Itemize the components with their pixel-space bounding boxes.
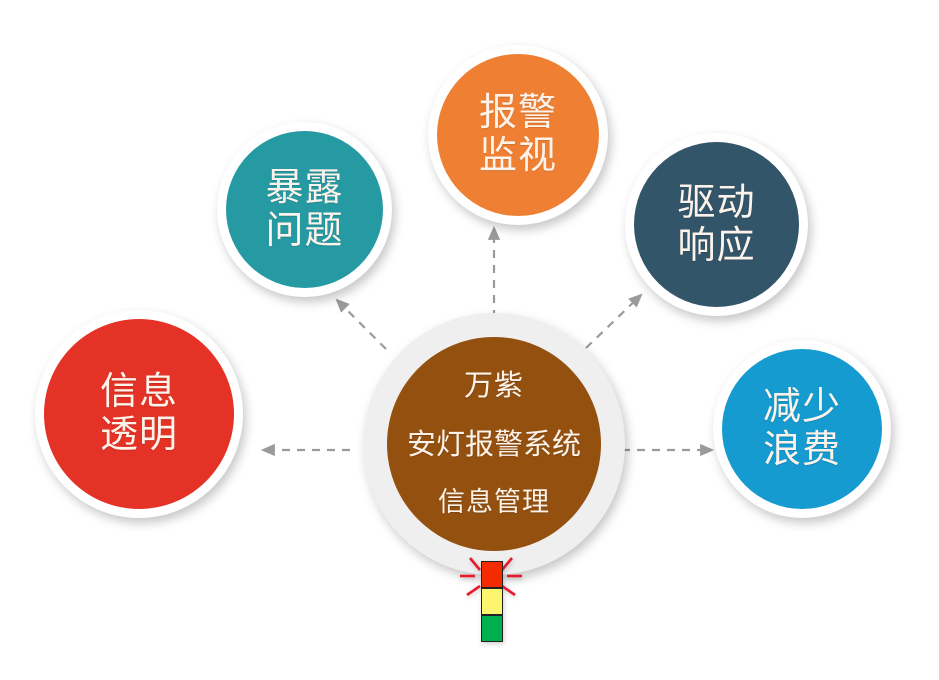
center-node-core: 万紫 安灯报警系统 信息管理: [387, 337, 601, 551]
node-drive-response-label: 驱动 响应: [677, 182, 755, 267]
andon-segment-green: [481, 615, 503, 642]
node-reduce-waste[interactable]: 减少 浪费: [713, 340, 891, 518]
node-alarm-monitor-label: 报警 监视: [479, 92, 557, 177]
node-reduce-waste-core: 减少 浪费: [722, 349, 882, 509]
andon-light-icon: [448, 548, 534, 648]
node-information-transparent-core: 信息 透明: [44, 319, 234, 509]
center-node-label: 万紫 安灯报警系统 信息管理: [407, 370, 581, 517]
node-expose-problem-label: 暴露 问题: [265, 167, 343, 252]
node-information-transparent-label: 信息 透明: [100, 371, 178, 456]
center-node[interactable]: 万紫 安灯报警系统 信息管理: [363, 313, 625, 575]
node-drive-response-core: 驱动 响应: [634, 142, 799, 307]
node-information-transparent[interactable]: 信息 透明: [35, 310, 243, 518]
node-expose-problem-core: 暴露 问题: [226, 131, 383, 288]
andon-segment-yellow: [481, 588, 503, 615]
connector-center-to-expose-problem: [337, 300, 386, 349]
node-drive-response[interactable]: 驱动 响应: [625, 133, 808, 316]
node-reduce-waste-label: 减少 浪费: [763, 386, 841, 471]
center-line-2: 安灯报警系统: [407, 429, 581, 461]
node-expose-problem[interactable]: 暴露 问题: [217, 122, 392, 297]
diagram-canvas: 万紫 安灯报警系统 信息管理 报警 监视 暴露 问题 驱动 响应 信息 透明: [0, 0, 939, 680]
andon-segment-red: [481, 561, 503, 588]
center-line-1: 万紫: [407, 370, 581, 402]
node-alarm-monitor[interactable]: 报警 监视: [428, 45, 608, 225]
connector-center-to-drive-response: [586, 295, 641, 348]
center-line-3: 信息管理: [407, 487, 581, 517]
node-alarm-monitor-core: 报警 监视: [437, 54, 599, 216]
